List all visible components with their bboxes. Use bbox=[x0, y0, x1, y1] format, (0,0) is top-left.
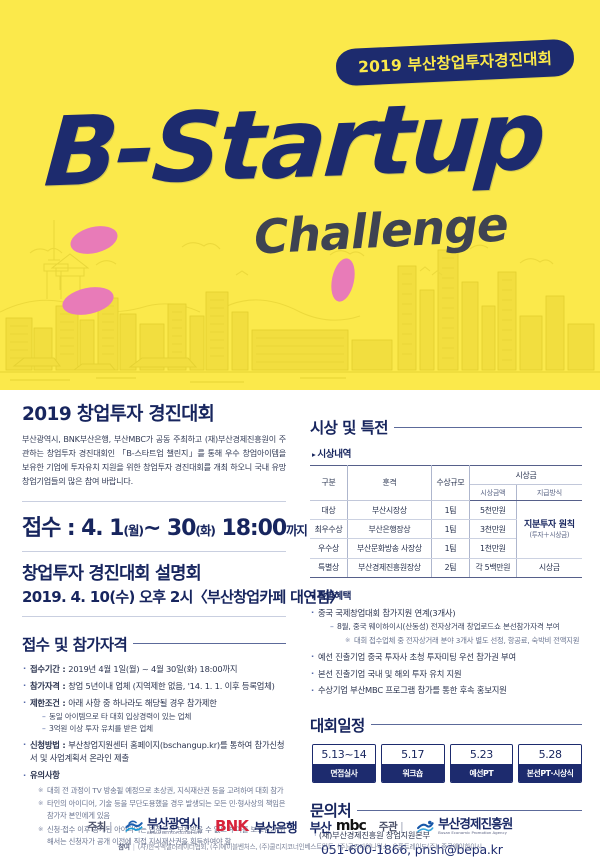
awards-table-body: 대상 부산시장상 1팀 5천만원 지분투자 원칙 (투자＋시상금) 최우수상 부… bbox=[310, 500, 582, 577]
list-item: 본선 진출기업 국내 및 해외 투자 유치 지원 bbox=[310, 668, 582, 681]
cell-method: 시상금 bbox=[516, 558, 582, 577]
busan-city-emblem-icon bbox=[125, 819, 143, 833]
cell-honor: 부산경제진흥원장상 bbox=[348, 558, 432, 577]
divider-mid bbox=[22, 551, 286, 552]
section-apply-eligibility: 접수 및 참가자격 bbox=[22, 633, 286, 655]
bepa-en: Busan Economic Promotion Agency bbox=[438, 831, 512, 835]
page-title: 2019 창업투자 경진대회 bbox=[22, 400, 286, 426]
apply-prefix: 접수 : 4. 1 bbox=[22, 516, 123, 541]
cell-honor: 부산문화방송 사장상 bbox=[348, 539, 432, 558]
col-header-amount: 시상금액 bbox=[469, 485, 516, 501]
busan-city-en: BUSAN METROPOLITAN CITY bbox=[147, 831, 202, 835]
bnk-bank-ko: 부산은행 bbox=[254, 817, 296, 836]
cell-honor: 부산시장상 bbox=[348, 500, 432, 519]
cell-category: 특별상 bbox=[310, 558, 348, 577]
item-text: 아래 사항 중 하나라도 해당될 경우 참가제한 bbox=[68, 698, 216, 708]
bnk-wordmark: BNK bbox=[215, 817, 248, 835]
divider-bottom bbox=[22, 616, 286, 617]
item-label: 제한조건 : bbox=[30, 698, 68, 708]
divider-top bbox=[22, 501, 286, 502]
cell-scale: 1팀 bbox=[431, 500, 469, 519]
section-schedule-label: 대회일정 bbox=[310, 714, 365, 736]
list-item: 대회 전 과정이 TV 방송될 예정으로 초상권, 지식재산권 등을 고려하여 … bbox=[38, 785, 286, 797]
content-area: 2019 창업투자 경진대회 부산광역시, BNK부산은행, 부산MBC가 공동… bbox=[0, 390, 600, 857]
col-header-method: 지급방식 bbox=[516, 485, 582, 501]
col-header-honor: 훈격 bbox=[348, 466, 432, 501]
pink-accent-top bbox=[68, 222, 121, 259]
logo-busan-city: 부산광역시 BUSAN METROPOLITAN CITY bbox=[125, 818, 202, 835]
busan-city-text: 부산광역시 BUSAN METROPOLITAN CITY bbox=[147, 818, 202, 835]
intro-paragraph: 부산광역시, BNK부산은행, 부산MBC가 공동 주최하고 (재)부산경제진흥… bbox=[22, 433, 286, 489]
benefit-sub-text: 8월, 중국 웨이하이시(산동성) 전자상거래 창업로드쇼 본선참가자격 부여 bbox=[337, 622, 559, 631]
item-text: 창업 5년이내 업체 (지역제한 없음, '14. 1. 1. 이후 등록업체) bbox=[68, 681, 274, 691]
briefing-datetime: 2019. 4. 10(수) 오후 2시〈부산창업카페 대연점〉 bbox=[22, 586, 286, 607]
cell-honor: 부산은행장상 bbox=[348, 520, 432, 539]
list-item: 예선 진출기업 중국 투자사 초청 투자미팅 우선 참가권 부여 bbox=[310, 651, 582, 664]
table-row: 대상 부산시장상 1팀 5천만원 지분투자 원칙 (투자＋시상금) bbox=[310, 500, 582, 519]
schedule-label: 워크숍 bbox=[382, 764, 444, 782]
schedule-item: 5.17 워크숍 bbox=[381, 744, 445, 783]
logo-bnk-busan-bank: BNK 부산은행 bbox=[215, 817, 297, 836]
poster-root: 2019 부산창업투자경진대회 B-Startup Challenge 2019… bbox=[0, 0, 600, 858]
participants-text: (사)한국엑셀러레이터협회, (주)에이블벤처스, (주)쿨리지코너인베스트먼트… bbox=[138, 843, 482, 851]
section-schedule: 대회일정 bbox=[310, 714, 582, 736]
right-column: 시상 및 특전 시상내역 구분 훈격 수상규모 시상금 시상금액 지급방식 bbox=[300, 400, 600, 857]
organizer-label-text: 주관 bbox=[379, 821, 397, 833]
col-header-category: 구분 bbox=[310, 466, 348, 501]
mbc-wordmark: mbc bbox=[336, 818, 366, 834]
logo-sub-text: Challenge bbox=[253, 201, 509, 261]
item-label: 참가자격 : bbox=[30, 681, 68, 691]
list-item: 중국 국제창업대회 참가지원 연계(3개사) 8월, 중국 웨이하이시(산동성)… bbox=[310, 607, 582, 647]
table-header-row: 구분 훈격 수상규모 시상금 bbox=[310, 466, 582, 485]
awards-table-head: 구분 훈격 수상규모 시상금 시상금액 지급방식 bbox=[310, 466, 582, 501]
schedule-label: 면접실사 bbox=[313, 764, 375, 782]
cell-category: 대상 bbox=[310, 500, 348, 519]
cell-amount: 각 5백만원 bbox=[469, 558, 516, 577]
apply-mid: ~ 30 bbox=[143, 516, 195, 541]
section-awards-label: 시상 및 특전 bbox=[310, 416, 388, 438]
cell-scale: 1팀 bbox=[431, 520, 469, 539]
schedule-label: 예선PT bbox=[451, 764, 513, 782]
list-item: 접수기간 : 2019년 4월 1일(월) ~ 4월 30일(화) 18:00까… bbox=[22, 663, 286, 676]
logo-bepa: 부산경제진흥원 Busan Economic Promotion Agency bbox=[416, 818, 512, 835]
application-period-headline: 접수 : 4. 1(월)~ 30(화) 18:00까지 bbox=[22, 510, 286, 542]
item-label: 신청방법 : bbox=[30, 740, 68, 750]
method-main: 지분투자 원칙 bbox=[524, 520, 575, 530]
schedule-label: 본선PT·시상식 bbox=[519, 764, 581, 782]
organizer-label: 주관| bbox=[379, 819, 403, 834]
schedule-date: 5.28 bbox=[519, 745, 581, 765]
table-row: 특별상 부산경제진흥원장상 2팀 각 5백만원 시상금 bbox=[310, 558, 582, 577]
list-item: 참가자격 : 창업 5년이내 업체 (지역제한 없음, '14. 1. 1. 이… bbox=[22, 680, 286, 693]
mbc-ko: 부산 bbox=[310, 817, 331, 836]
footer: 주최| 부산광역시 BUSAN METROPOLITAN CITY BNK 부산… bbox=[0, 811, 600, 858]
apply-time: 18:00 bbox=[222, 516, 287, 541]
item-text: 2019년 4월 1일(월) ~ 4월 30일(화) 18:00까지 bbox=[68, 664, 237, 674]
divider-pipe: | bbox=[133, 843, 135, 851]
host-label-text: 주최 bbox=[88, 821, 106, 833]
schedule-item: 5.13~14 면접실사 bbox=[312, 744, 376, 783]
cell-scale: 2팀 bbox=[431, 558, 469, 577]
schedule-item: 5.28 본선PT·시상식 bbox=[518, 744, 582, 783]
cell-category: 우수상 bbox=[310, 539, 348, 558]
benefit-sublist: 8월, 중국 웨이하이시(산동성) 전자상거래 창업로드쇼 본선참가자격 부여 … bbox=[318, 621, 582, 647]
sponsor-logo-row: 주최| 부산광역시 BUSAN METROPOLITAN CITY BNK 부산… bbox=[0, 811, 600, 841]
awards-subhead: 시상내역 bbox=[312, 446, 582, 460]
schedule-date: 5.17 bbox=[382, 745, 444, 765]
logo-busan-mbc: 부산 mbc bbox=[310, 817, 366, 836]
cell-scale: 1팀 bbox=[431, 539, 469, 558]
bepa-ko: 부산경제진흥원 bbox=[438, 816, 512, 831]
logo-main-text: B-Startup bbox=[42, 87, 546, 200]
divider-pipe: | bbox=[109, 821, 112, 833]
apply-day2: (화) bbox=[195, 523, 215, 538]
section-awards: 시상 및 특전 bbox=[310, 416, 582, 438]
col-header-scale: 수상규모 bbox=[431, 466, 469, 501]
apply-day1: (월) bbox=[123, 523, 143, 538]
cell-amount: 3천만원 bbox=[469, 520, 516, 539]
col-header-prize-group: 시상금 bbox=[469, 466, 582, 485]
cell-category: 최우수상 bbox=[310, 520, 348, 539]
busan-city-ko: 부산광역시 bbox=[147, 816, 200, 831]
notice-label: 유의사항 bbox=[30, 770, 60, 780]
item-text: 부산창업지원센터 홈페이지(bschangup.kr)를 통하여 참가신청서 및… bbox=[30, 740, 284, 763]
section-apply-eligibility-label: 접수 및 참가자격 bbox=[22, 633, 127, 655]
restriction-sublist: 동일 아이템으로 타 대회 입상경력이 있는 업체 3억원 이상 투자 유치를 … bbox=[30, 711, 286, 735]
schedule-date: 5.23 bbox=[451, 745, 513, 765]
cell-amount: 5천만원 bbox=[469, 500, 516, 519]
awards-table: 구분 훈격 수상규모 시상금 시상금액 지급방식 대상 부산시장상 1팀 bbox=[310, 465, 582, 578]
host-label: 주최| bbox=[88, 819, 112, 834]
list-item: 3억원 이상 투자 유치를 받은 업체 bbox=[42, 723, 286, 735]
list-item: 신청방법 : 부산창업지원센터 홈페이지(bschangup.kr)를 통하여 … bbox=[22, 739, 286, 766]
list-item: 제한조건 : 아래 사항 중 하나라도 해당될 경우 참가제한 동일 아이템으로… bbox=[22, 697, 286, 736]
cell-amount: 1천만원 bbox=[469, 539, 516, 558]
briefing-title: 창업투자 경진대회 설명회 bbox=[22, 560, 286, 585]
schedule-item: 5.23 예선PT bbox=[450, 744, 514, 783]
list-item: 8월, 중국 웨이하이시(산동성) 전자상거래 창업로드쇼 본선참가자격 부여 … bbox=[330, 621, 582, 647]
hero-banner: 2019 부산창업투자경진대회 B-Startup Challenge bbox=[0, 0, 600, 390]
bepa-emblem-icon bbox=[416, 819, 434, 833]
schedule-date: 5.13~14 bbox=[313, 745, 375, 765]
list-item: 대회 접수업체 중 전자상거래 분야 3개사 별도 선정, 항공료, 숙박비 전… bbox=[345, 635, 582, 647]
bepa-text: 부산경제진흥원 Busan Economic Promotion Agency bbox=[438, 818, 512, 835]
item-label: 접수기간 : bbox=[30, 664, 68, 674]
method-note: (투자＋시상금) bbox=[518, 531, 581, 540]
benefits-list: 중국 국제창업대회 참가지원 연계(3개사) 8월, 중국 웨이하이시(산동성)… bbox=[310, 607, 582, 698]
schedule-boxes: 5.13~14 면접실사 5.17 워크숍 5.23 예선PT 5.28 본선P… bbox=[312, 744, 582, 783]
participants-line: 참여|(사)한국엑셀러레이터협회, (주)에이블벤처스, (주)쿨리지코너인베스… bbox=[0, 841, 600, 852]
benefit-note-list: 대회 접수업체 중 전자상거래 분야 3개사 별도 선정, 항공료, 숙박비 전… bbox=[337, 635, 582, 647]
benefits-subhead: 특별혜택 bbox=[312, 588, 582, 602]
participants-label: 참여 bbox=[118, 843, 130, 851]
divider-pipe: | bbox=[400, 821, 403, 833]
left-column: 2019 창업투자 경진대회 부산광역시, BNK부산은행, 부산MBC가 공동… bbox=[0, 400, 300, 857]
list-item: 동일 아이템으로 타 대회 입상경력이 있는 업체 bbox=[42, 711, 286, 723]
benefit-text: 중국 국제창업대회 참가지원 연계(3개사) bbox=[318, 608, 455, 618]
list-item: 수상기업 부산MBC 프로그램 참가를 통한 후속 홍보지원 bbox=[310, 684, 582, 697]
cell-method-merged: 지분투자 원칙 (투자＋시상금) bbox=[516, 500, 582, 558]
logo-lockup: B-Startup Challenge bbox=[0, 96, 600, 276]
